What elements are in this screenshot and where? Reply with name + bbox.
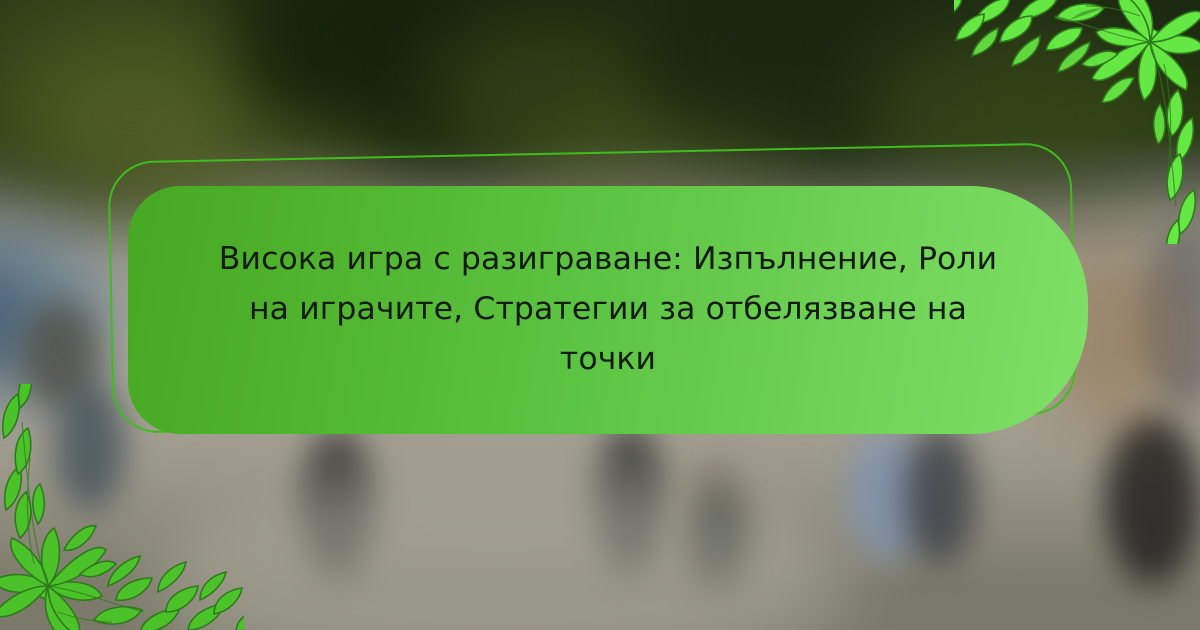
title-banner[interactable]: Висока игра с разиграване: Изпълнение, Р… — [128, 186, 1088, 434]
share-card: Висока игра с разиграване: Изпълнение, Р… — [0, 0, 1200, 630]
pedestrian-blob — [55, 380, 125, 510]
pedestrian-blob — [905, 425, 975, 565]
pedestrian-blob — [1105, 415, 1200, 585]
page-title: Висока игра с разиграване: Изпълнение, Р… — [189, 235, 1027, 384]
